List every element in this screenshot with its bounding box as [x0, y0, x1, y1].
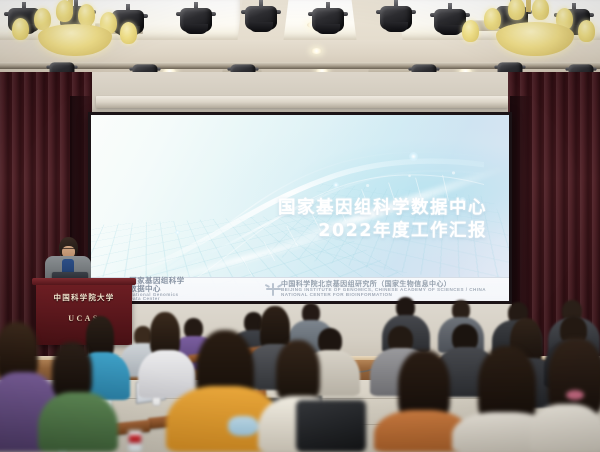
audience-front-rows: [0, 0, 600, 452]
face-mask: [228, 416, 258, 436]
hair-tie: [566, 390, 584, 400]
conference-hall-photo: 国家基因组科学数据中心 2022年度工作汇报 国家基因组科学数据中心 Natio…: [0, 0, 600, 452]
water-bottle: [128, 430, 142, 452]
backpack: [296, 400, 366, 452]
